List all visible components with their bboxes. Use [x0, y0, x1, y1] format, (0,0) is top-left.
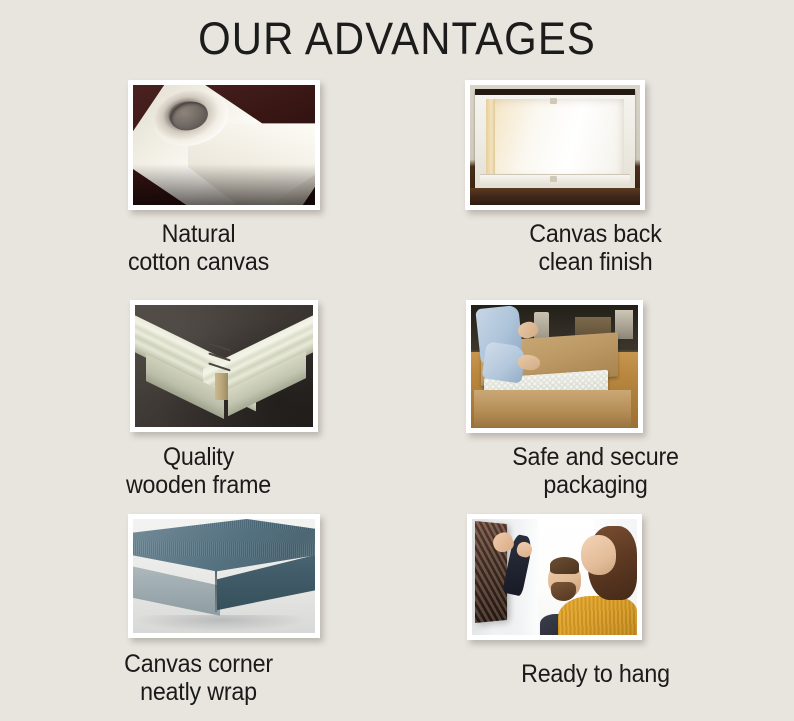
wooden-frame-corner-photo — [135, 305, 313, 427]
canvas-corner-photo — [133, 519, 315, 633]
advantages-row: Canvas corner neatly wrap — [0, 506, 794, 721]
caption-line-1: Canvas corner — [14, 650, 383, 678]
advantage-photo-frame — [130, 300, 318, 432]
caption-line-2: clean finish — [411, 248, 780, 276]
advantage-caption: Quality wooden frame — [14, 443, 383, 500]
advantage-caption: Safe and secure packaging — [411, 443, 780, 500]
advantage-caption: Canvas back clean finish — [411, 220, 780, 277]
advantage-photo-frame — [128, 514, 320, 638]
caption-line-1: Canvas back — [411, 220, 780, 248]
advantage-caption: Canvas corner neatly wrap — [14, 650, 383, 707]
page-title: OUR ADVANTAGES — [28, 0, 766, 64]
canvas-back-photo — [470, 85, 640, 205]
advantage-photo-frame — [128, 80, 320, 210]
advantages-grid: Natural cotton canvas Canvas back — [0, 76, 794, 721]
advantage-photo-frame — [466, 300, 643, 433]
ready-to-hang-photo — [472, 519, 637, 635]
advantage-photo-frame — [467, 514, 642, 640]
caption-line-2: wooden frame — [14, 471, 383, 499]
packaging-photo — [471, 305, 638, 428]
advantage-card-natural-cotton-canvas[interactable]: Natural cotton canvas — [0, 76, 397, 291]
caption-line-2: cotton canvas — [14, 248, 383, 276]
caption-line-1: Ready to hang — [411, 660, 780, 688]
advantage-card-canvas-corner-neatly-wrap[interactable]: Canvas corner neatly wrap — [0, 506, 397, 721]
caption-line-2: neatly wrap — [14, 678, 383, 706]
advantage-card-canvas-back-clean-finish[interactable]: Canvas back clean finish — [397, 76, 794, 291]
advantage-caption: Ready to hang — [411, 660, 780, 688]
advantages-row: Natural cotton canvas Canvas back — [0, 76, 794, 291]
caption-line-2: packaging — [411, 471, 780, 499]
canvas-roll-photo — [133, 85, 315, 205]
advantage-card-quality-wooden-frame[interactable]: Quality wooden frame — [0, 291, 397, 506]
caption-line-1: Safe and secure — [411, 443, 780, 471]
advantage-caption: Natural cotton canvas — [14, 220, 383, 277]
advantage-card-safe-and-secure-packaging[interactable]: Safe and secure packaging — [397, 291, 794, 506]
caption-line-1: Quality — [14, 443, 383, 471]
caption-line-1: Natural — [14, 220, 383, 248]
advantages-row: Quality wooden frame — [0, 291, 794, 506]
advantage-card-ready-to-hang[interactable]: Ready to hang — [397, 506, 794, 721]
advantage-photo-frame — [465, 80, 645, 210]
